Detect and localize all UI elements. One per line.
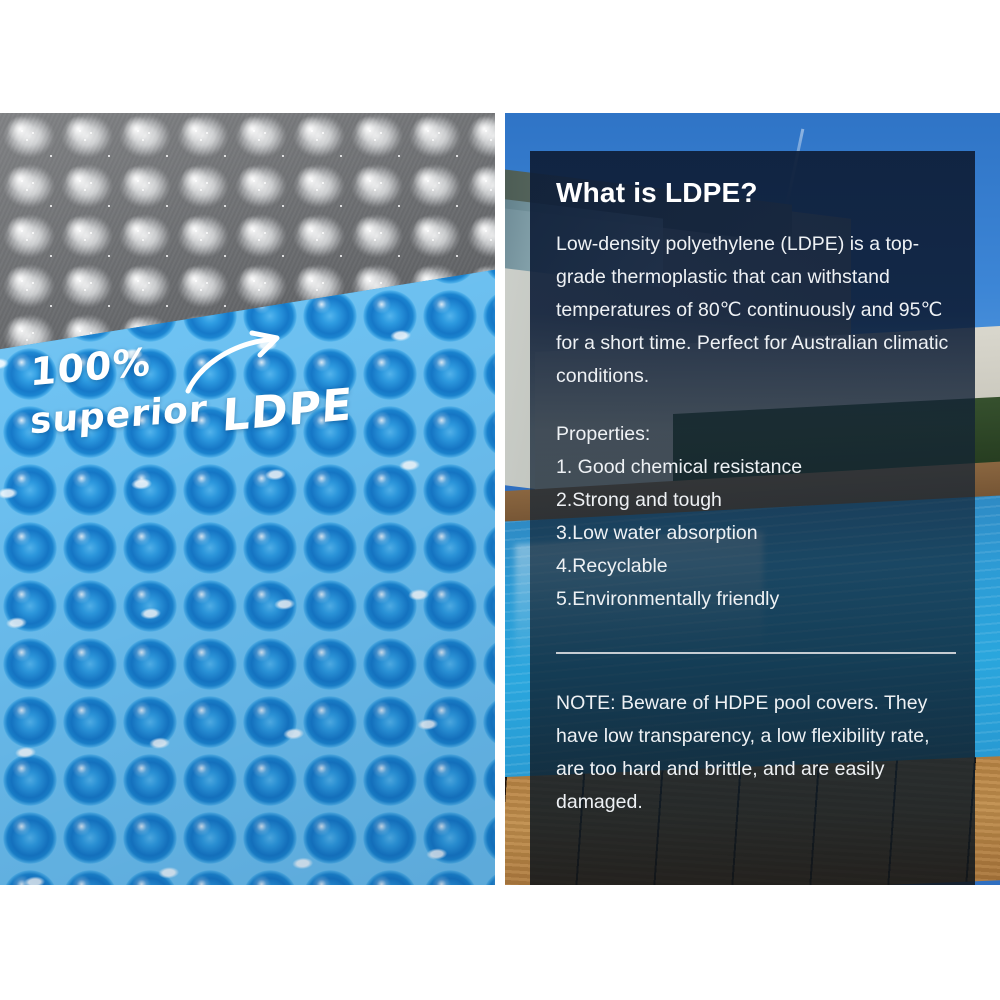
card-divider	[556, 652, 956, 654]
right-image-panel: What is LDPE? Low-density polyethylene (…	[505, 113, 1000, 885]
card-note: NOTE: Beware of HDPE pool covers. They h…	[556, 687, 951, 819]
list-item: 5.Environmentally friendly	[556, 583, 951, 616]
card-description: Low-density polyethylene (LDPE) is a top…	[556, 228, 951, 393]
card-title: What is LDPE?	[556, 177, 951, 209]
list-item: 3.Low water absorption	[556, 517, 951, 550]
properties-label: Properties:	[556, 418, 951, 451]
list-item: 1. Good chemical resistance	[556, 451, 951, 484]
handwritten-overlay: 100% superior LDPE	[30, 345, 350, 465]
list-item: 4.Recyclable	[556, 550, 951, 583]
properties-list: 1. Good chemical resistance 2.Strong and…	[556, 451, 951, 616]
overlay-line-percent: 100%	[29, 340, 151, 395]
list-item: 2.Strong and tough	[556, 484, 951, 517]
left-image-panel: 100% superior LDPE	[0, 113, 495, 885]
product-feature-image: 100% superior LDPE What	[0, 0, 1000, 1000]
ldpe-info-card: What is LDPE? Low-density polyethylene (…	[530, 151, 975, 885]
curved-arrow-up-right-icon	[182, 329, 292, 399]
